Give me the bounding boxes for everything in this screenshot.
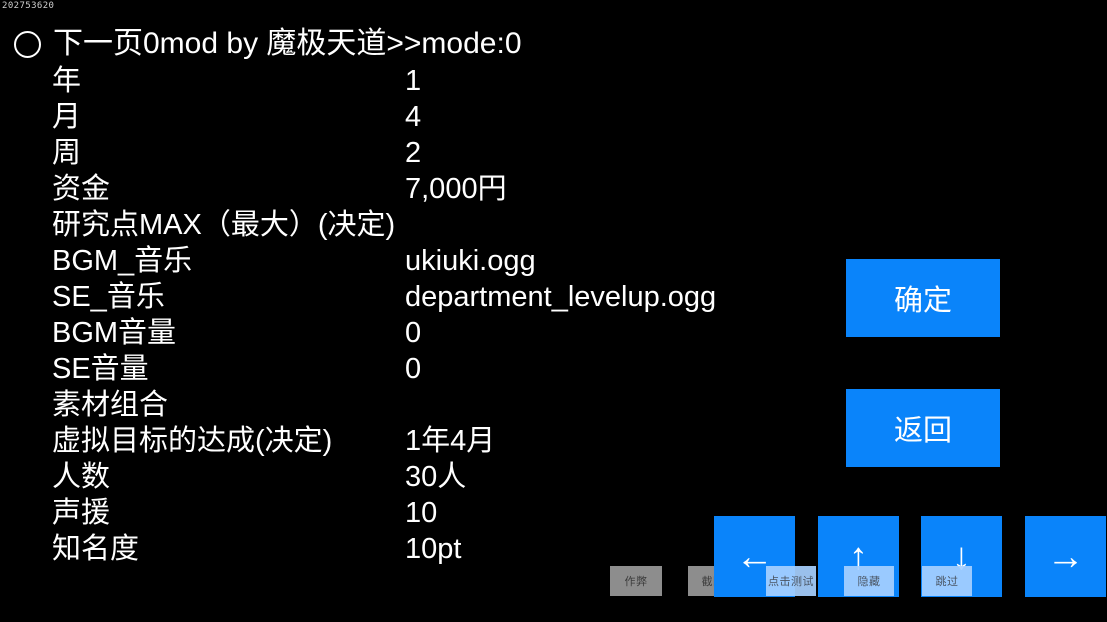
setting-label: BGM_音乐 (52, 243, 192, 279)
settings-list: 年 1 月 4 周 2 资金 7,000円 研究点MAX（最大）(决定) BGM… (52, 63, 842, 567)
page-title-row: 下一页0mod by 魔极天道>>mode:0 (14, 24, 522, 64)
settings-row-headcount[interactable]: 人数 30人 (52, 459, 842, 495)
settings-row-virtual-goal[interactable]: 虚拟目标的达成(决定) 1年4月 (52, 423, 842, 459)
setting-label: 资金 (52, 171, 110, 207)
version-stamp: 202753620 (2, 1, 54, 12)
setting-label: 研究点MAX（最大）(决定) (52, 207, 395, 243)
setting-value: 30人 (405, 459, 466, 495)
setting-value: 10pt (405, 531, 461, 567)
settings-row-se-volume[interactable]: SE音量 0 (52, 351, 842, 387)
back-button[interactable]: 返回 (846, 389, 1000, 467)
settings-row-research-max[interactable]: 研究点MAX（最大）(决定) (52, 207, 842, 243)
settings-row-month[interactable]: 月 4 (52, 99, 842, 135)
setting-value: 2 (405, 135, 421, 171)
click-test-button[interactable]: 点击测试 (766, 566, 816, 596)
confirm-button[interactable]: 确定 (846, 259, 1000, 337)
settings-row-bgm-track[interactable]: BGM_音乐 ukiuki.ogg (52, 243, 842, 279)
cheat-button[interactable]: 作弊 (610, 566, 662, 596)
setting-label: SE_音乐 (52, 279, 165, 315)
settings-row-se-track[interactable]: SE_音乐 department_levelup.ogg (52, 279, 842, 315)
setting-value: department_levelup.ogg (405, 279, 716, 315)
game-settings-screen: 202753620 下一页0mod by 魔极天道>>mode:0 年 1 月 … (0, 0, 1107, 622)
setting-label: 声援 (52, 495, 110, 531)
page-title: 下一页0mod by 魔极天道>>mode:0 (53, 27, 522, 61)
setting-label: BGM音量 (52, 315, 176, 351)
setting-value: 1 (405, 63, 421, 99)
setting-value: ukiuki.ogg (405, 243, 536, 279)
setting-value: 4 (405, 99, 421, 135)
setting-value: 0 (405, 315, 421, 351)
setting-label: 虚拟目标的达成(决定) (52, 423, 332, 459)
setting-value: 10 (405, 495, 437, 531)
skip-button[interactable]: 跳过 (922, 566, 972, 596)
setting-label: 人数 (52, 459, 110, 495)
setting-value: 7,000円 (405, 171, 507, 207)
setting-value: 1年4月 (405, 423, 495, 459)
setting-value: 0 (405, 351, 421, 387)
setting-label: SE音量 (52, 351, 149, 387)
settings-row-year[interactable]: 年 1 (52, 63, 842, 99)
hide-button[interactable]: 隐藏 (844, 566, 894, 596)
settings-row-bgm-volume[interactable]: BGM音量 0 (52, 315, 842, 351)
setting-label: 素材组合 (52, 387, 168, 423)
settings-row-funds[interactable]: 资金 7,000円 (52, 171, 842, 207)
setting-label: 知名度 (52, 531, 139, 567)
setting-label: 周 (52, 135, 81, 171)
settings-row-week[interactable]: 周 2 (52, 135, 842, 171)
setting-label: 月 (52, 99, 81, 135)
settings-row-material-combo[interactable]: 素材组合 (52, 387, 842, 423)
setting-label: 年 (52, 63, 81, 99)
arrow-right-icon-button[interactable]: → (1025, 516, 1106, 597)
circle-outline-icon (14, 31, 41, 58)
